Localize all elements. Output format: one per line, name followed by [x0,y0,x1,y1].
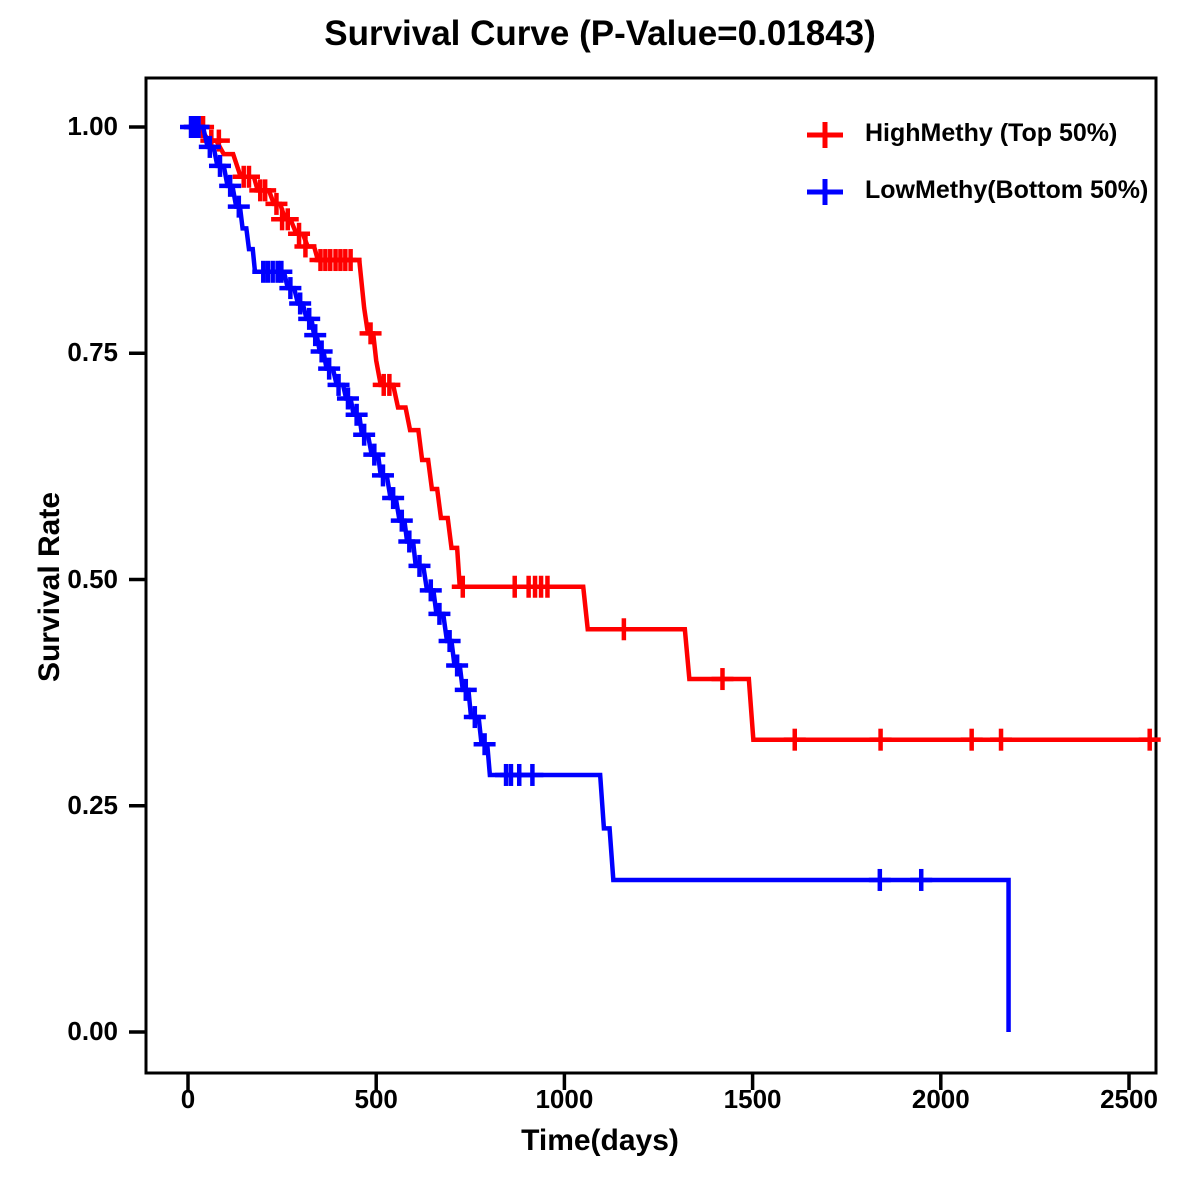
survival-curves [180,116,1161,1032]
x-axis-label: Time(days) [0,1124,1200,1158]
x-tick-label: 1500 [693,1084,813,1115]
x-tick-label: 500 [316,1084,436,1115]
legend-item-label: LowMethy(Bottom 50%) [865,176,1148,205]
y-tick-label: 0.00 [8,1016,118,1047]
y-axis-ticks [129,127,146,1032]
y-tick-label: 1.00 [8,111,118,142]
y-tick-label: 0.50 [8,564,118,595]
x-tick-label: 2500 [1069,1084,1189,1115]
legend-item-label: HighMethy (Top 50%) [865,119,1117,148]
x-tick-label: 2000 [881,1084,1001,1115]
survival-curve-figure: Survival Curve (P-Value=0.01843) Time(da… [0,0,1200,1200]
x-tick-label: 1000 [504,1084,624,1115]
y-tick-label: 0.25 [8,790,118,821]
y-tick-label: 0.75 [8,337,118,368]
x-tick-label: 0 [128,1084,248,1115]
legend-markers [807,122,843,205]
